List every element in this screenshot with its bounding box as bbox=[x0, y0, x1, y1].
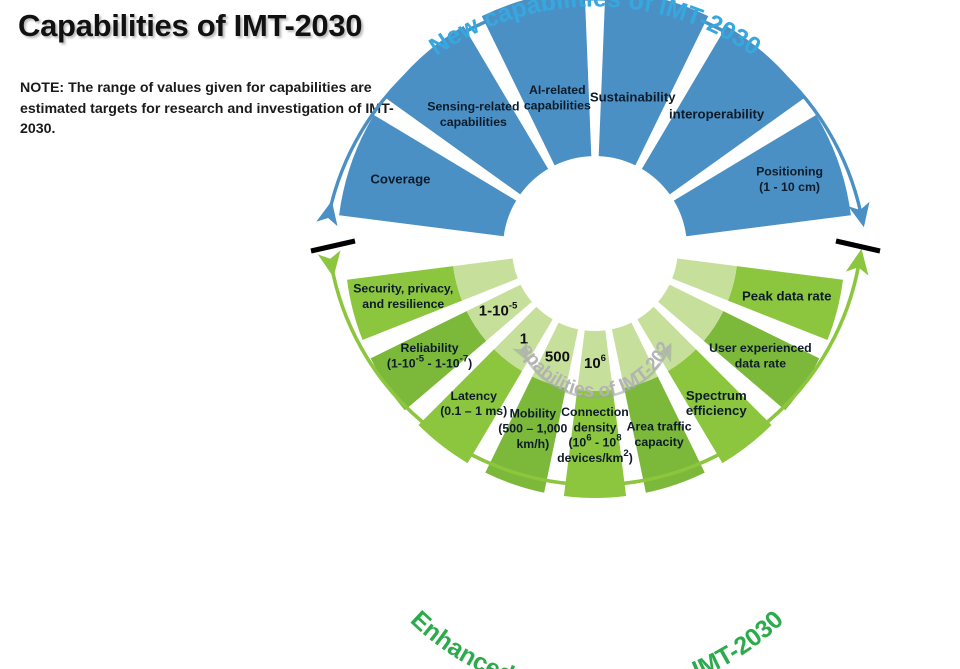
blue-segment-ring: CoverageSensing-relatedcapabilitiesAI-re… bbox=[339, 0, 851, 236]
slide-root: Capabilities of IMT-2030 NOTE: The range… bbox=[0, 0, 960, 669]
segment-label: Spectrumefficiency bbox=[686, 388, 748, 418]
segment-label: Coverage bbox=[370, 172, 430, 187]
right-divider-mark bbox=[836, 241, 880, 251]
segment-label: Sensing-relatedcapabilities bbox=[427, 100, 519, 129]
segment-label: Sustainability bbox=[590, 90, 676, 105]
segment-label: Positioning(1 - 10 cm) bbox=[756, 165, 823, 194]
segment-label: Connectiondensity(106 - 108devices/km2) bbox=[557, 405, 633, 465]
left-divider-mark bbox=[311, 241, 355, 251]
segment-label: Security, privacy,and resilience bbox=[353, 282, 453, 311]
segment-label: Peak data rate bbox=[742, 289, 831, 304]
segment-label: AI-relatedcapabilities bbox=[524, 83, 591, 112]
segment-label: Area trafficcapacity bbox=[627, 420, 692, 449]
bottom-arc-label: Enhanced capabilities for IMT-2030 bbox=[405, 605, 789, 669]
segment-label: interoperability bbox=[669, 107, 765, 122]
capabilities-wheel: CoverageSensing-relatedcapabilitiesAI-re… bbox=[0, 0, 960, 669]
